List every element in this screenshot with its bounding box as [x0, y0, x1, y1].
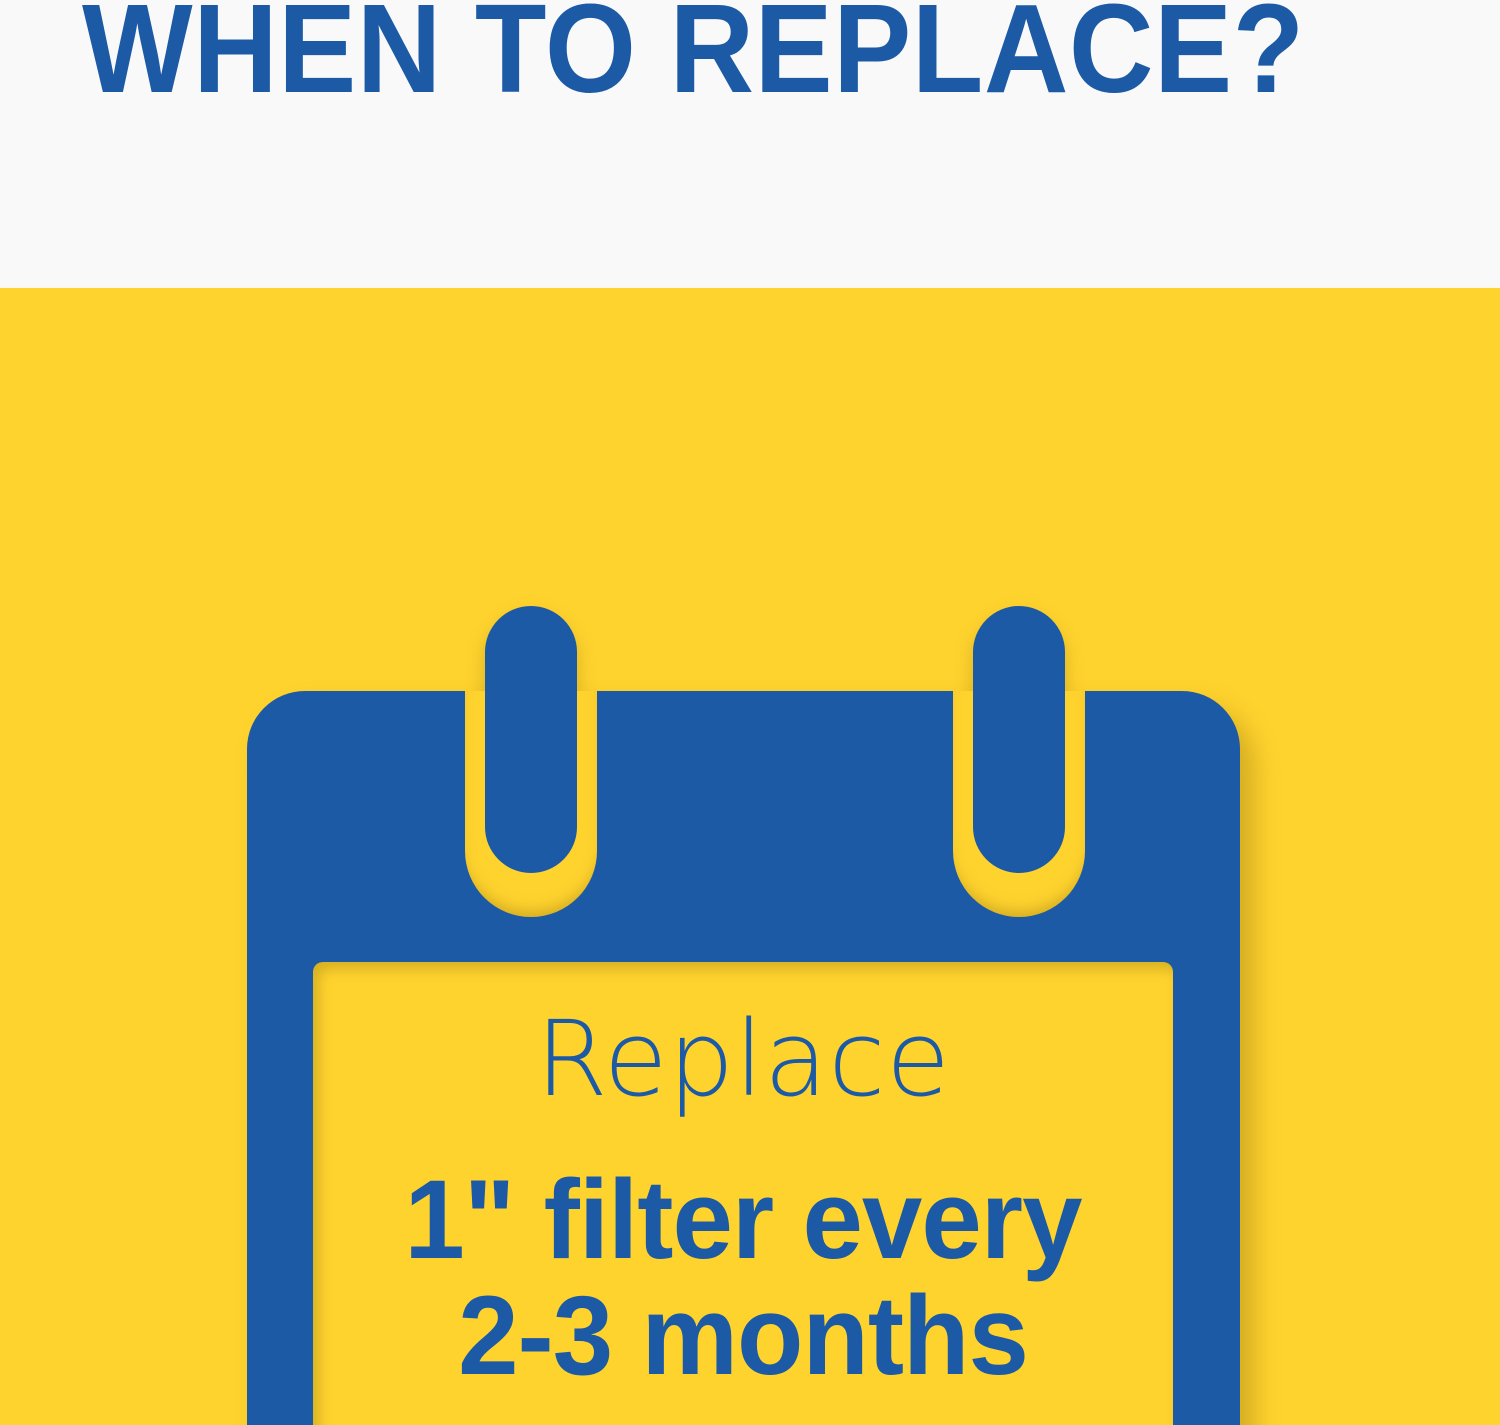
yellow-panel: Replace 1" filter every 2-3 months Every…	[0, 288, 1500, 1425]
calendar-window: Replace 1" filter every 2-3 months Every…	[313, 962, 1173, 1425]
page-title: WHEN TO REPLACE?	[82, 0, 1161, 112]
calendar-icon: Replace 1" filter every 2-3 months Every…	[247, 606, 1243, 1425]
calendar-headline-line-1: 1" filter every	[326, 1164, 1160, 1276]
calendar-headline-line-2: 2-3 months	[326, 1280, 1160, 1392]
calendar-pin-left	[485, 606, 577, 873]
infographic-page: WHEN TO REPLACE? Replace 1" filter every…	[0, 0, 1500, 1425]
calendar-eyebrow: Replace	[313, 1000, 1173, 1118]
calendar-pin-right	[973, 606, 1065, 873]
calendar-text-block: Replace 1" filter every 2-3 months Every…	[313, 962, 1173, 1425]
